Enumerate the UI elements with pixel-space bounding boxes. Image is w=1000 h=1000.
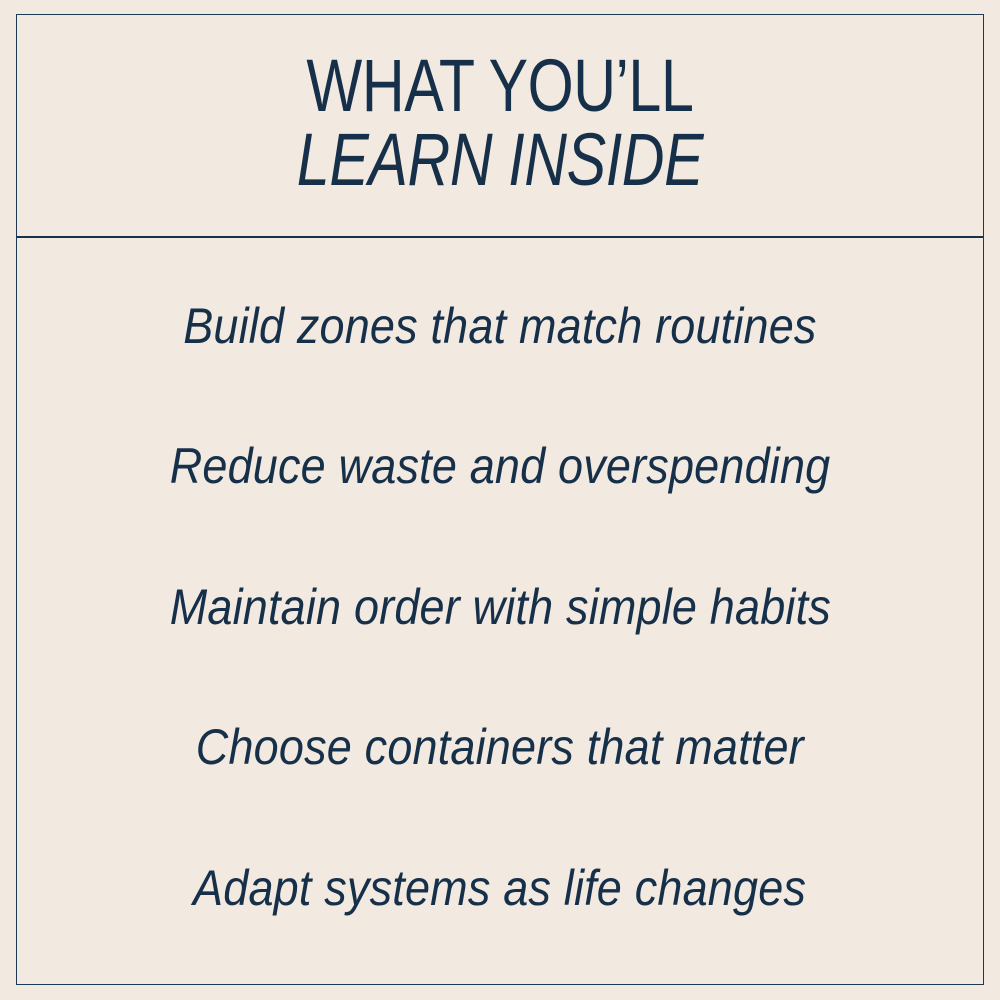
header-section: WHAT YOU’LL LEARN INSIDE	[17, 15, 983, 238]
list-item: Choose containers that matter	[196, 677, 804, 817]
poster-frame: WHAT YOU’LL LEARN INSIDE Build zones tha…	[16, 14, 984, 985]
list-item: Adapt systems as life changes	[193, 818, 806, 958]
list-item: Reduce waste and overspending	[170, 396, 831, 536]
poster-canvas: WHAT YOU’LL LEARN INSIDE Build zones tha…	[0, 0, 1000, 1000]
page-title-line-1: WHAT YOU’LL	[306, 50, 693, 121]
list-item: Maintain order with simple habits	[169, 537, 830, 677]
list-item: Build zones that match routines	[183, 256, 816, 396]
learning-points-list: Build zones that match routines Reduce w…	[17, 238, 983, 984]
page-title-line-2: LEARN INSIDE	[297, 124, 703, 195]
